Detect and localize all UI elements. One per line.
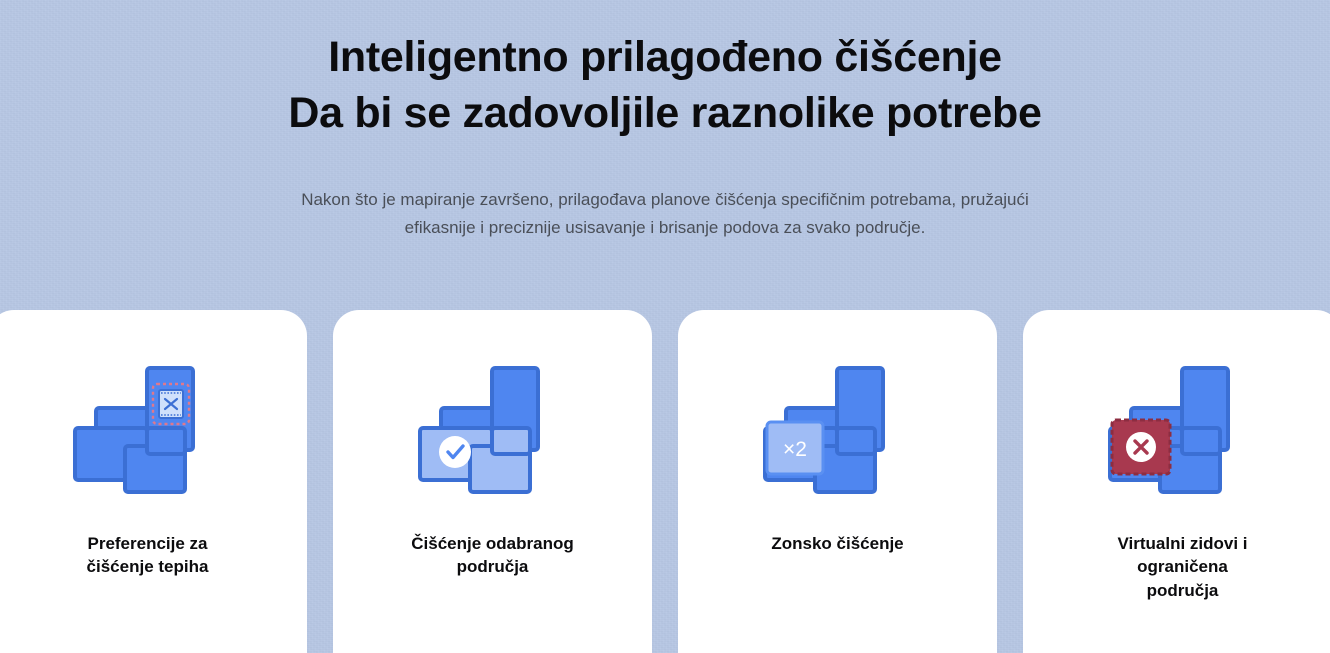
page-subtitle: Nakon što je mapiranje završeno, prilago… xyxy=(229,186,1101,242)
feature-card-selected-area[interactable]: Čišćenje odabranog područja xyxy=(333,310,652,653)
label-line-3: područja xyxy=(1117,579,1247,602)
feature-card-label: Zonsko čišćenje xyxy=(753,532,921,555)
floorplan-selected-area-icon xyxy=(408,362,578,502)
feature-card-label: Preferencije za čišćenje tepiha xyxy=(69,532,227,579)
label-line-1: Virtualni zidovi i xyxy=(1117,532,1247,555)
feature-card-list: Preferencije za čišćenje tepiha xyxy=(0,310,1330,653)
label-line-1: Čišćenje odabranog xyxy=(411,532,573,555)
label-line-1: Zonsko čišćenje xyxy=(771,532,903,555)
page-subtitle-line-2: efikasnije i preciznije usisavanje i bri… xyxy=(229,214,1101,242)
label-line-2: ograničena xyxy=(1117,555,1247,578)
label-line-1: Preferencije za xyxy=(87,532,209,555)
repeat-count-label: ×2 xyxy=(783,438,807,461)
restricted-zone-badge xyxy=(1112,420,1170,474)
label-line-2: čišćenje tepiha xyxy=(87,555,209,578)
feature-card-label: Čišćenje odabranog područja xyxy=(393,532,591,579)
feature-section: Inteligentno prilagođeno čišćenje Da bi … xyxy=(0,0,1330,653)
section-header: Inteligentno prilagođeno čišćenje Da bi … xyxy=(0,0,1330,242)
feature-card-label: Virtualni zidovi i ograničena područja xyxy=(1099,532,1265,602)
feature-card-virtual-walls[interactable]: Virtualni zidovi i ograničena područja xyxy=(1023,310,1330,653)
floorplan-zone-icon: ×2 xyxy=(753,362,923,502)
check-badge-icon xyxy=(439,436,471,468)
page-title-line-1: Inteligentno prilagođeno čišćenje xyxy=(0,30,1330,86)
page-subtitle-line-1: Nakon što je mapiranje završeno, prilago… xyxy=(229,186,1101,214)
floorplan-carpet-icon xyxy=(63,362,233,502)
feature-card-carpet-preferences[interactable]: Preferencije za čišćenje tepiha xyxy=(0,310,307,653)
repeat-zone-badge: ×2 xyxy=(767,422,823,474)
page-title: Inteligentno prilagođeno čišćenje Da bi … xyxy=(0,30,1330,142)
page-title-line-2: Da bi se zadovoljile raznolike potrebe xyxy=(0,86,1330,142)
label-line-2: područja xyxy=(411,555,573,578)
rug-glyph xyxy=(159,390,183,418)
feature-card-zone-cleaning[interactable]: ×2 Zonsko čišćenje xyxy=(678,310,997,653)
floorplan-no-go-zone-icon xyxy=(1098,362,1268,502)
